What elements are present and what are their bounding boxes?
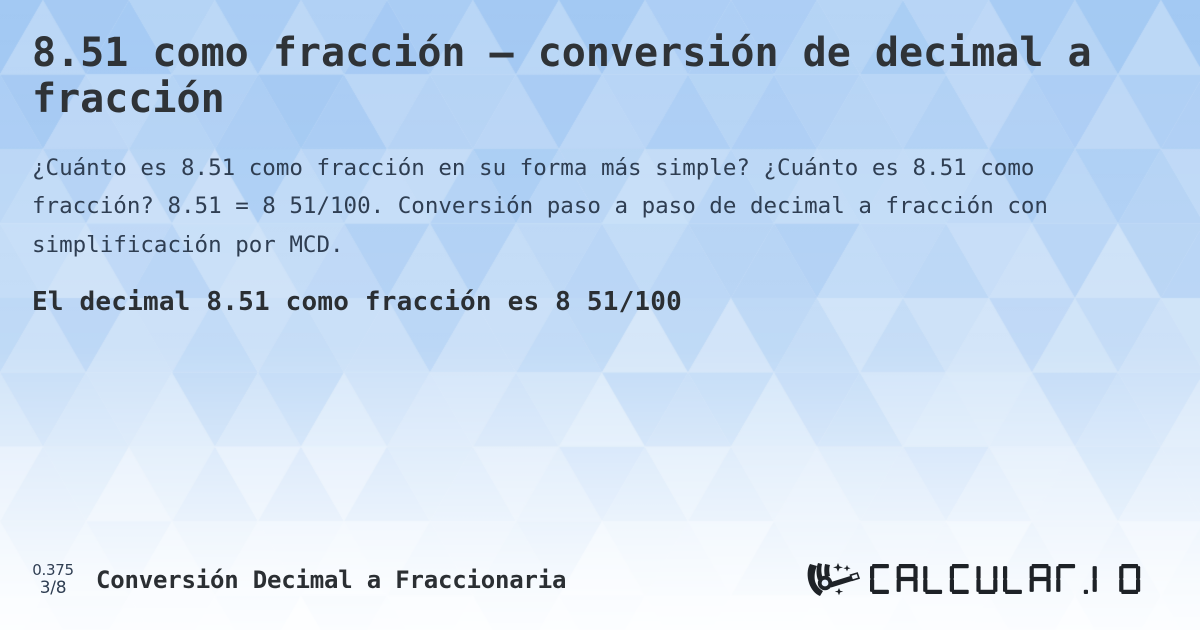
page-container: 8.51 como fracción – conversión de decim…	[0, 0, 1200, 630]
calculatio-wordmark-icon	[866, 559, 1166, 601]
footer-brand-group: 0.375 3/8 Conversión Decimal a Fracciona…	[24, 562, 566, 598]
magic-wand-hand-icon	[806, 560, 860, 600]
brand-logo[interactable]	[806, 558, 1176, 602]
footer-title: Conversión Decimal a Fraccionaria	[96, 566, 566, 594]
answer-statement: El decimal 8.51 como fracción es 8 51/10…	[32, 287, 1168, 317]
page-description: ¿Cuánto es 8.51 como fracción en su form…	[32, 149, 1152, 265]
fraction-logo-decimal: 0.375	[32, 562, 73, 579]
page-title: 8.51 como fracción – conversión de decim…	[32, 30, 1092, 123]
brand-wordmark	[866, 558, 1166, 602]
fraction-logo-fraction: 3/8	[40, 579, 66, 598]
footer: 0.375 3/8 Conversión Decimal a Fracciona…	[0, 538, 1200, 630]
fraction-logo-icon: 0.375 3/8	[24, 562, 82, 598]
